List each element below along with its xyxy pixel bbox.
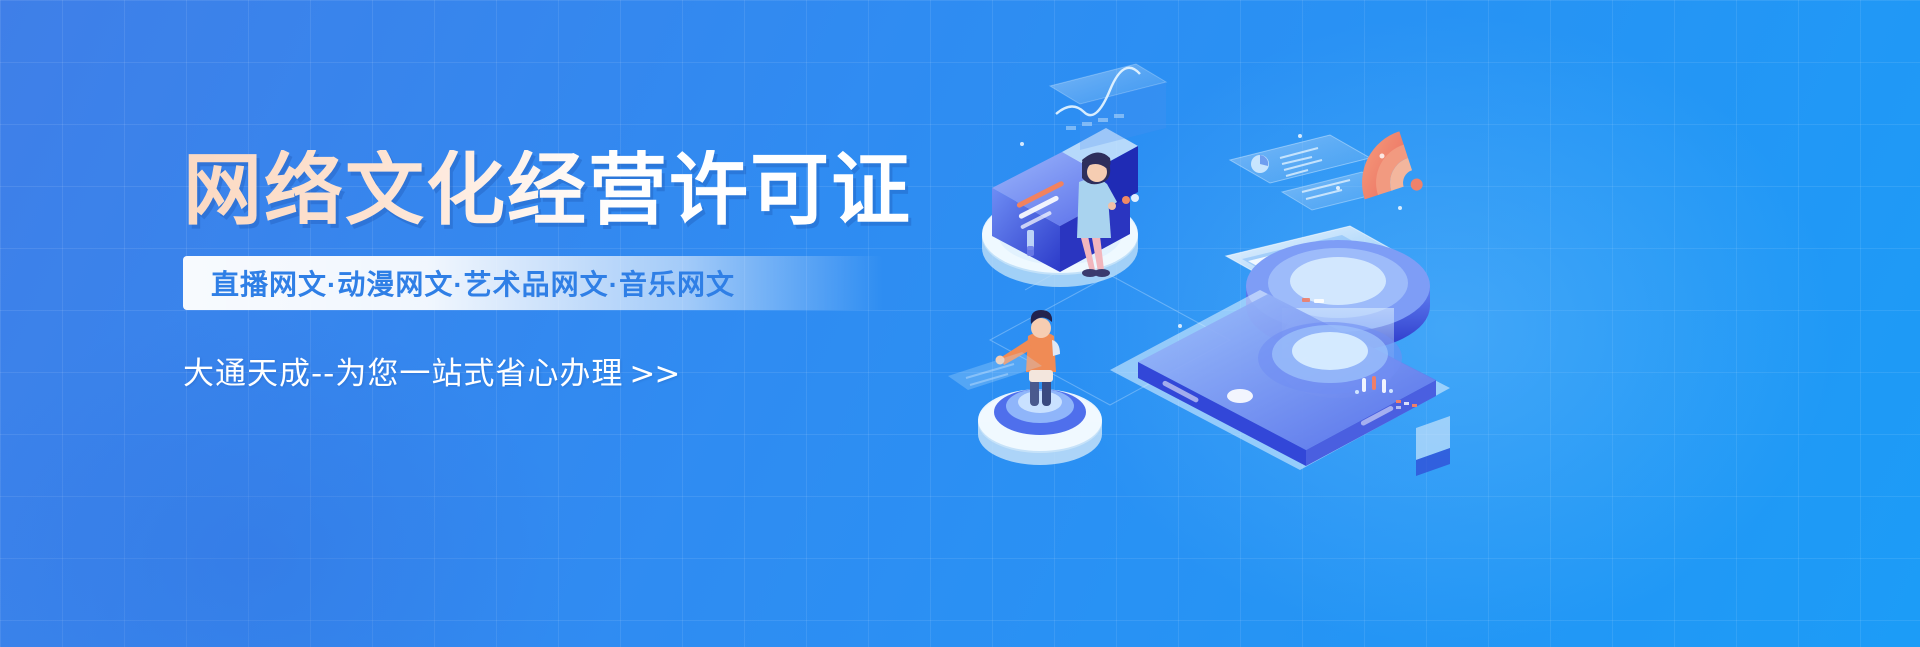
kiosk-accessory — [1027, 230, 1034, 256]
tagline-text: 大通天成--为您一站式省心办理 — [183, 356, 623, 392]
promo-banner: 网络文化经营许可证 直播网文·动漫网文·艺术品网文·音乐网文 大通天成--为您一… — [0, 0, 1920, 647]
banner-copy-block: 网络文化经营许可证 直播网文·动漫网文·艺术品网文·音乐网文 大通天成--为您一… — [183, 150, 943, 393]
subtitle-pill-text: 直播网文·动漫网文·艺术品网文·音乐网文 — [211, 263, 735, 303]
tagline-arrows-icon: >> — [629, 356, 679, 392]
line-chart-card-icon — [1050, 64, 1166, 150]
banner-tagline[interactable]: 大通天成--为您一站式省心办理>> — [183, 348, 943, 393]
banner-headline: 网络文化经营许可证 — [183, 150, 943, 229]
subtitle-pill: 直播网文·动漫网文·艺术品网文·音乐网文 — [183, 256, 883, 310]
isometric-illustration: 文网文 — [930, 40, 1450, 470]
right-edge-card — [1416, 416, 1450, 476]
man-platform — [978, 389, 1102, 465]
